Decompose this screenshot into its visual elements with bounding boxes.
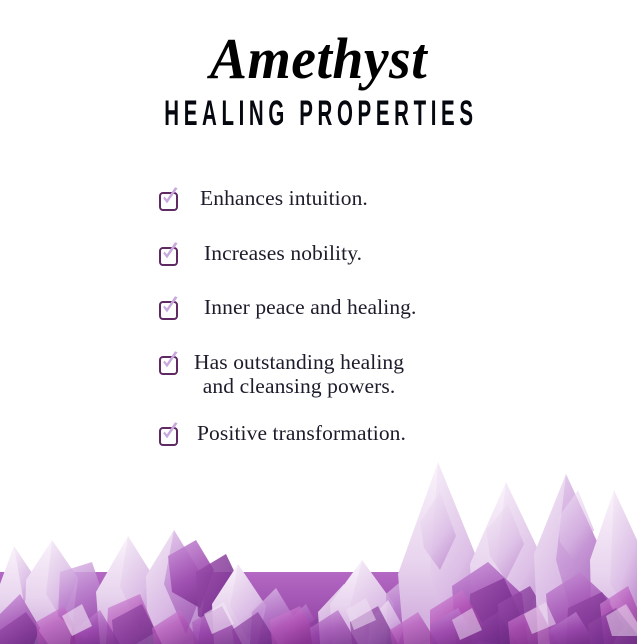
page-subtitle: HEALING PROPERTIES [121,87,516,130]
list-item: Increases nobility. [158,241,578,266]
list-item-label: Inner peace and healing. [184,295,417,320]
page-title: Amethyst [13,30,625,88]
amethyst-crystal-cluster-image [0,444,637,644]
list-item-label: Positive transformation. [184,421,406,446]
checkmark-icon [161,296,180,318]
checked-checkbox-icon[interactable] [158,299,178,319]
healing-properties-list: Enhances intuition. Increases nobility. … [158,186,578,475]
checked-checkbox-icon[interactable] [158,190,178,210]
checked-checkbox-icon[interactable] [158,354,178,374]
list-item-label: Has outstanding healing and cleansing po… [184,350,404,399]
checkmark-icon [161,187,180,209]
checkmark-icon [161,351,180,373]
list-item-label: Enhances intuition. [184,186,368,211]
checked-checkbox-icon[interactable] [158,425,178,445]
list-item: Has outstanding healing and cleansing po… [158,350,578,399]
checkmark-icon [161,242,180,264]
amethyst-healing-properties-poster: Amethyst HEALING PROPERTIES Enhances int… [0,0,637,644]
checkmark-icon [161,422,180,444]
poster-header: Amethyst HEALING PROPERTIES [0,0,637,129]
list-item: Positive transformation. [158,421,578,446]
list-item-label: Increases nobility. [184,241,362,266]
list-item: Inner peace and healing. [158,295,578,320]
crystal-cluster-graphic [0,444,637,644]
checked-checkbox-icon[interactable] [158,245,178,265]
list-item: Enhances intuition. [158,186,578,211]
